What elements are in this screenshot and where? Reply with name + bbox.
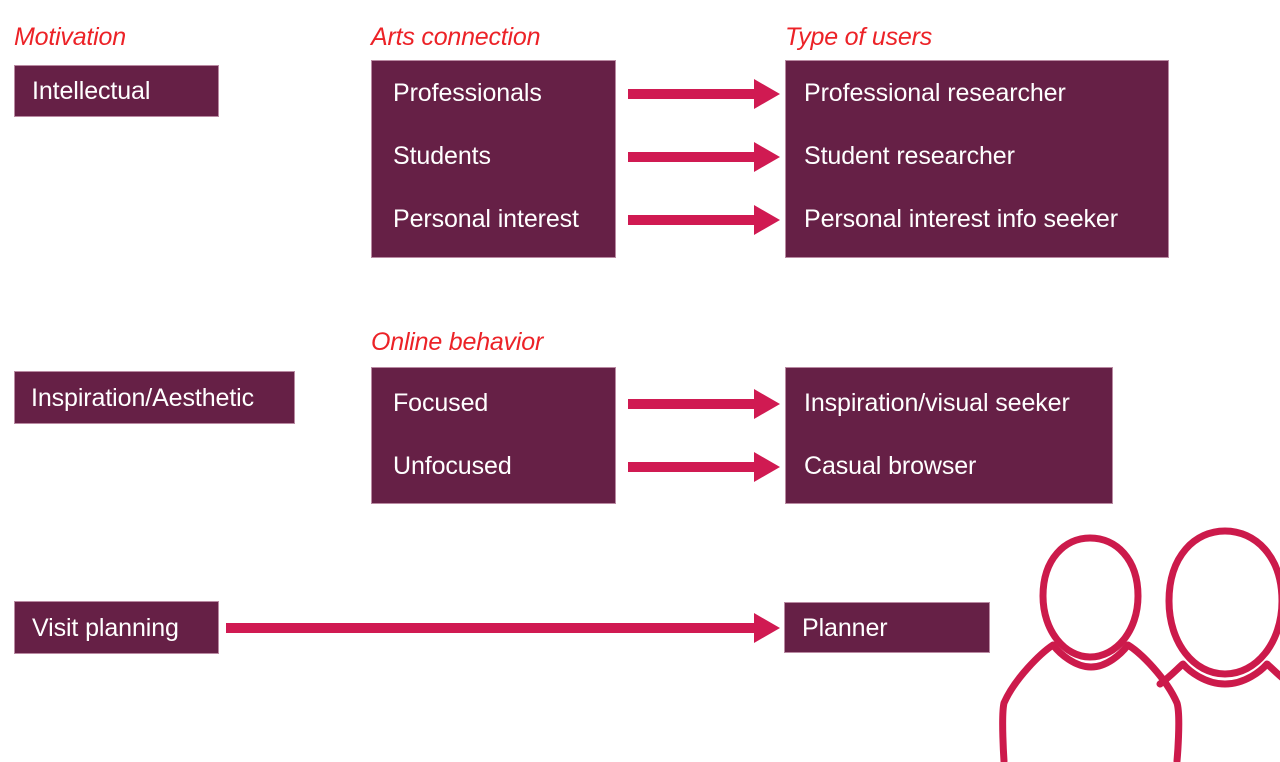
planner-box[interactable]: Planner bbox=[784, 602, 990, 653]
column-header-online-behavior: Online behavior bbox=[371, 328, 543, 356]
box-label-professionals: Professionals bbox=[393, 79, 542, 107]
box-label-planner: Planner bbox=[802, 614, 887, 642]
type-of-users-box[interactable]: Professional researcher Student research… bbox=[785, 60, 1169, 258]
arrow-students-to-student-researcher bbox=[628, 142, 780, 172]
user-type-box-row2[interactable]: Inspiration/visual seeker Casual browser bbox=[785, 367, 1113, 504]
motivation-box-inspiration-aesthetic[interactable]: Inspiration/Aesthetic bbox=[14, 371, 295, 424]
box-label: Intellectual bbox=[32, 77, 150, 105]
online-behavior-box[interactable]: Focused Unfocused bbox=[371, 367, 616, 504]
column-header-type-of-users: Type of users bbox=[785, 23, 932, 51]
column-header-motivation: Motivation bbox=[14, 23, 126, 51]
box-label-focused: Focused bbox=[393, 389, 488, 417]
box-label-inspiration-visual-seeker: Inspiration/visual seeker bbox=[804, 389, 1070, 417]
arrow-focused-to-inspiration-visual-seeker bbox=[628, 389, 780, 419]
box-label-personal-interest: Personal interest bbox=[393, 205, 579, 233]
motivation-box-intellectual[interactable]: Intellectual bbox=[14, 65, 219, 117]
box-label-student-researcher: Student researcher bbox=[804, 142, 1015, 170]
motivation-box-visit-planning[interactable]: Visit planning bbox=[14, 601, 219, 654]
arrow-professionals-to-professional-researcher bbox=[628, 79, 780, 109]
box-label-unfocused: Unfocused bbox=[393, 452, 512, 480]
diagram-canvas: Motivation Arts connection Type of users… bbox=[0, 0, 1280, 762]
column-header-arts-connection: Arts connection bbox=[371, 23, 540, 51]
box-label-professional-researcher: Professional researcher bbox=[804, 79, 1066, 107]
arrow-unfocused-to-casual-browser bbox=[628, 452, 780, 482]
box-label-personal-interest-info-seeker: Personal interest info seeker bbox=[804, 205, 1118, 233]
box-label-casual-browser: Casual browser bbox=[804, 452, 976, 480]
arrow-personal-interest-to-info-seeker bbox=[628, 205, 780, 235]
arrow-visit-planning-to-planner bbox=[226, 613, 780, 643]
box-label-students: Students bbox=[393, 142, 491, 170]
two-people-icon bbox=[993, 518, 1280, 762]
arts-connection-box[interactable]: Professionals Students Personal interest bbox=[371, 60, 616, 258]
box-label: Inspiration/Aesthetic bbox=[31, 384, 254, 412]
box-label: Visit planning bbox=[32, 614, 179, 642]
